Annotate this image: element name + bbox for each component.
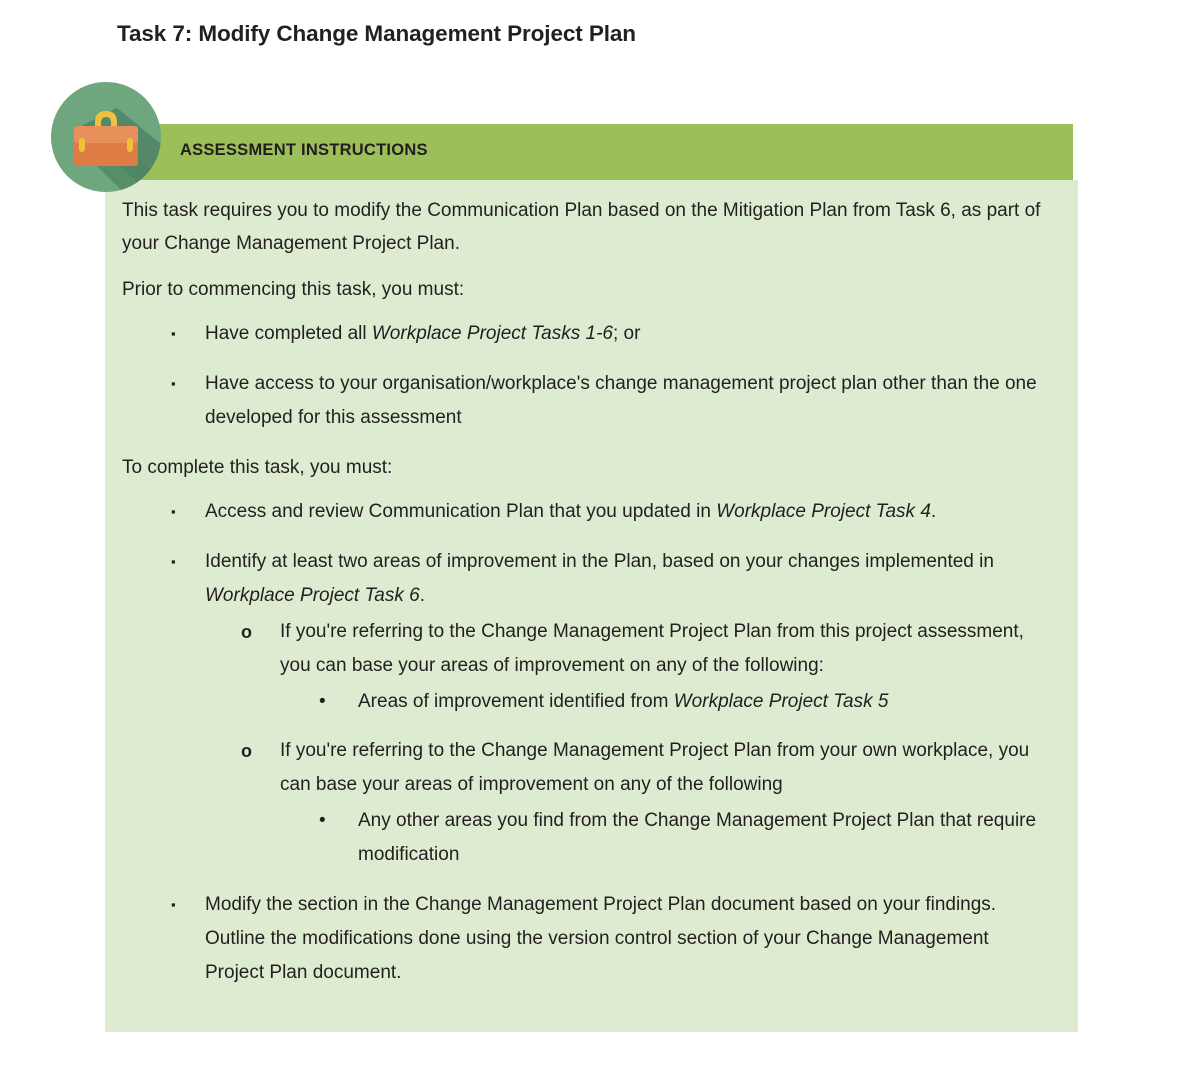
plain-text: ; or [613, 323, 640, 344]
bullet-marker-icon: o [241, 734, 252, 768]
list-item: oIf you're referring to the Change Manag… [116, 615, 1048, 719]
nested-list-wrapper: oIf you're referring to the Change Manag… [116, 615, 1048, 872]
list-item-text: Access and review Communication Plan tha… [205, 501, 936, 522]
list-item-text: Have access to your organisation/workpla… [205, 373, 1037, 428]
bullet-marker-icon: ▪ [171, 545, 176, 579]
plain-text: Any other areas you find from the Change… [358, 810, 1036, 865]
list-item: •Any other areas you find from the Chang… [116, 804, 1048, 872]
briefcase-icon [51, 82, 161, 192]
list-item-text: Any other areas you find from the Change… [358, 810, 1036, 865]
assessment-instructions-callout: ASSESSMENT INSTRUCTIONS This task requir… [105, 124, 1078, 1032]
bullet-marker-icon: • [319, 685, 326, 719]
callout-body: This task requires you to modify the Com… [105, 180, 1078, 1032]
bullet-list-level-3: •Any other areas you find from the Chang… [116, 804, 1048, 872]
plain-text: Modify the section in the Change Managem… [205, 894, 996, 983]
briefcase-badge [51, 82, 161, 192]
plain-text: . [931, 501, 936, 522]
list-item-text: Modify the section in the Change Managem… [205, 894, 996, 983]
bullet-list-level-3: •Areas of improvement identified from Wo… [116, 685, 1048, 719]
plain-text: Have completed all [205, 323, 372, 344]
callout-header-label: ASSESSMENT INSTRUCTIONS [180, 141, 428, 160]
nested-list-wrapper: •Any other areas you find from the Chang… [116, 804, 1048, 872]
bullet-list-level-1: ▪Have completed all Workplace Project Ta… [116, 317, 1048, 435]
list-item-text: If you're referring to the Change Manage… [280, 740, 1029, 795]
bullet-list-level-1: ▪Access and review Communication Plan th… [116, 495, 1048, 990]
intro-paragraph: This task requires you to modify the Com… [116, 194, 1048, 260]
page-title: Task 7: Modify Change Management Project… [117, 21, 636, 47]
prior-heading: Prior to commencing this task, you must: [116, 273, 1048, 306]
list-item-text: Have completed all Workplace Project Tas… [205, 323, 640, 344]
plain-text: Areas of improvement identified from [358, 691, 674, 712]
list-item-text: Areas of improvement identified from Wor… [358, 691, 888, 712]
emphasis-text: Workplace Project Task 6 [205, 585, 420, 606]
emphasis-text: Workplace Project Task 4 [716, 501, 931, 522]
list-item-text: If you're referring to the Change Manage… [280, 621, 1024, 676]
list-item: oIf you're referring to the Change Manag… [116, 734, 1048, 872]
plain-text: Have access to your organisation/workpla… [205, 373, 1037, 428]
list-item-text: Identify at least two areas of improveme… [205, 551, 994, 606]
bullet-marker-icon: o [241, 615, 252, 649]
bullet-marker-icon: ▪ [171, 317, 176, 351]
bullet-marker-icon: ▪ [171, 888, 176, 922]
callout-header-band: ASSESSMENT INSTRUCTIONS [105, 124, 1073, 180]
list-item: ▪Have access to your organisation/workpl… [116, 367, 1048, 435]
bullet-marker-icon: ▪ [171, 367, 176, 401]
emphasis-text: Workplace Project Tasks 1-6 [372, 323, 613, 344]
nested-list-wrapper: •Areas of improvement identified from Wo… [116, 685, 1048, 719]
bullet-marker-icon: ▪ [171, 495, 176, 529]
plain-text: If you're referring to the Change Manage… [280, 621, 1024, 676]
plain-text: If you're referring to the Change Manage… [280, 740, 1029, 795]
plain-text: Access and review Communication Plan tha… [205, 501, 716, 522]
bullet-list-level-2: oIf you're referring to the Change Manag… [116, 615, 1048, 872]
emphasis-text: Workplace Project Task 5 [674, 691, 889, 712]
list-item: ▪Have completed all Workplace Project Ta… [116, 317, 1048, 351]
bullet-marker-icon: • [319, 804, 326, 838]
complete-heading: To complete this task, you must: [116, 451, 1048, 484]
plain-text: Identify at least two areas of improveme… [205, 551, 994, 572]
list-item: •Areas of improvement identified from Wo… [116, 685, 1048, 719]
plain-text: . [420, 585, 425, 606]
list-item: ▪Identify at least two areas of improvem… [116, 545, 1048, 872]
list-item: ▪Access and review Communication Plan th… [116, 495, 1048, 529]
document-page: Task 7: Modify Change Management Project… [0, 0, 1182, 1069]
list-item: ▪Modify the section in the Change Manage… [116, 888, 1048, 990]
